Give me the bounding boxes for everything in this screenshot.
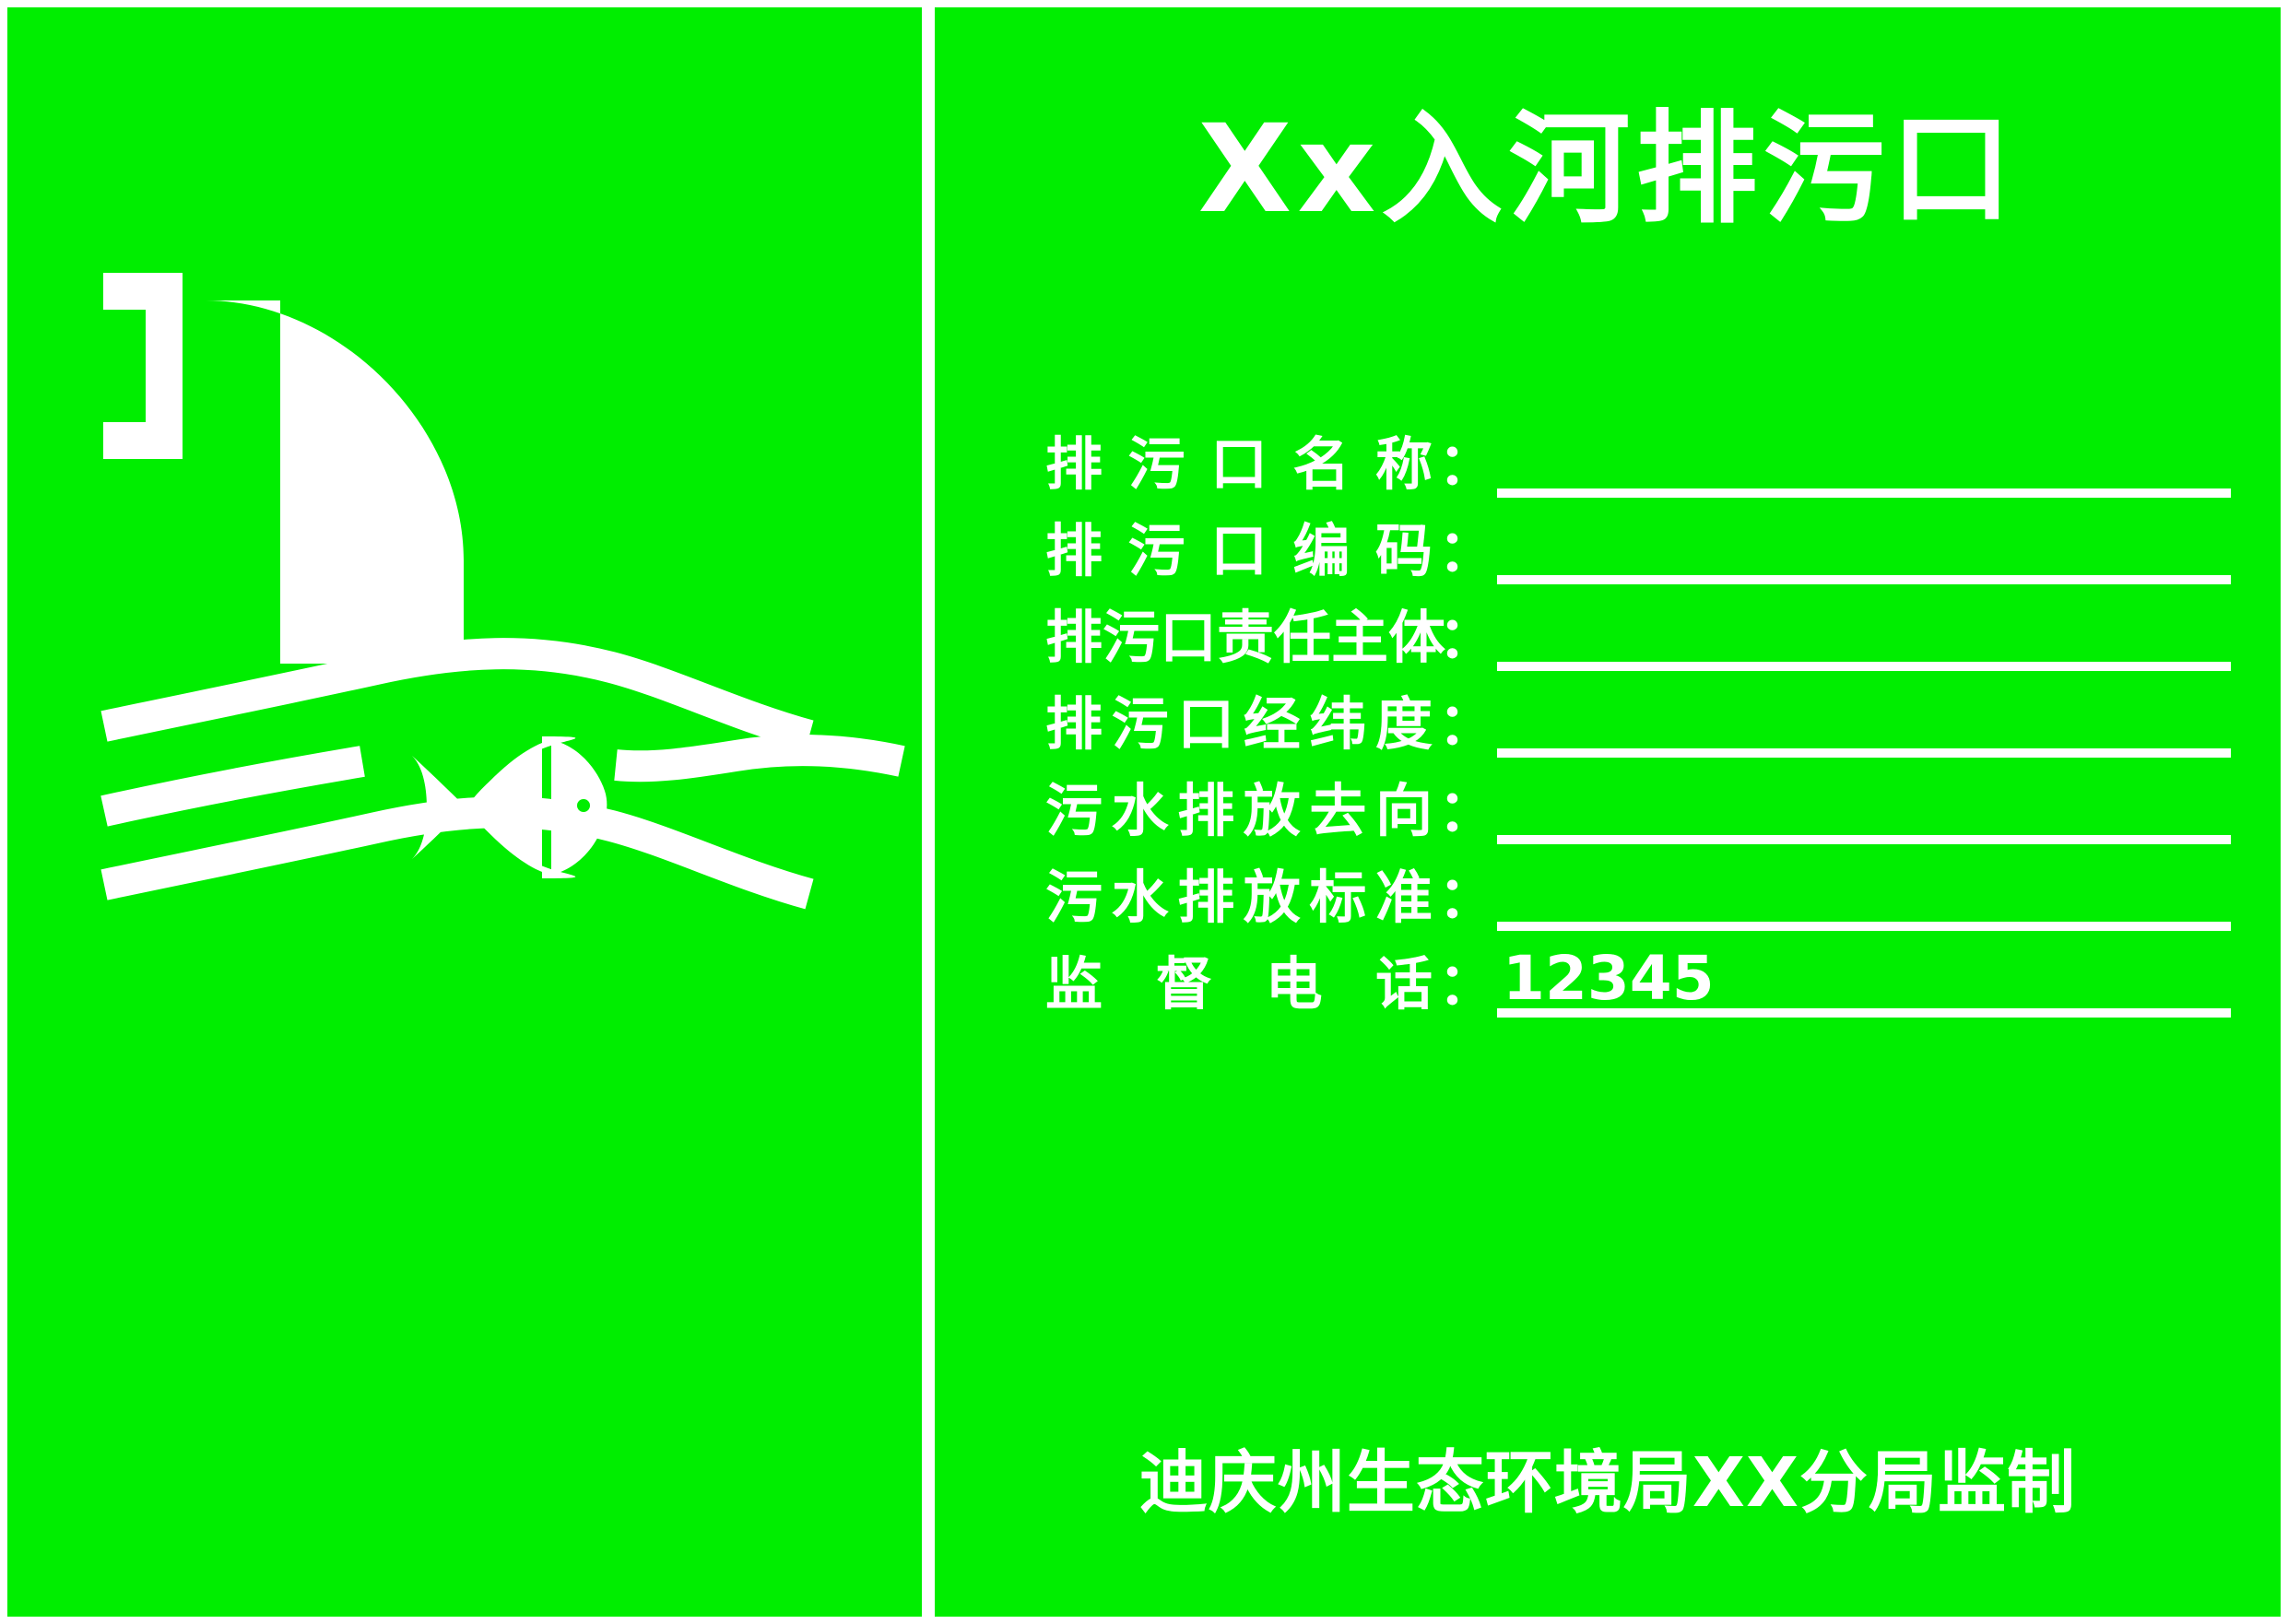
- field-underline: [1497, 922, 2231, 931]
- field-colon: ：: [1433, 951, 1497, 1018]
- field-underline: [1497, 835, 2231, 844]
- field-row-discharge-destination: 污水排放去向 ：: [1045, 778, 2236, 865]
- issuer-footer: 迪庆州生态环境局XX分局监制: [935, 1449, 2281, 1517]
- pictogram-panel: [7, 7, 922, 1617]
- field-value-wrap[interactable]: [1497, 865, 2236, 931]
- outfall-pipe-icon: [206, 300, 464, 664]
- field-row-responsible-party: 排污口责任主体 ：: [1045, 605, 2236, 691]
- field-underline: [1497, 1008, 2231, 1018]
- outfall-pictogram: [7, 7, 922, 1617]
- fields-list: 排污口名称 ： 排污口编码 ：: [1045, 431, 2236, 1038]
- sign-board: Xx入河排污口 排污口名称 ： 排污口编码 ：: [0, 0, 2288, 1624]
- field-row-outfall-name: 排污口名称 ：: [1045, 431, 2236, 518]
- field-underline: [1497, 748, 2231, 758]
- field-row-supervision-phone: 监督电话 ： 12345: [1045, 951, 2236, 1038]
- fish-icon: [412, 736, 607, 878]
- field-colon: ：: [1433, 691, 1497, 758]
- field-label: 污水排放去向: [1045, 778, 1433, 844]
- field-value-wrap[interactable]: [1497, 605, 2236, 671]
- field-value-wrap[interactable]: 12345: [1497, 951, 2236, 1018]
- field-value-wrap[interactable]: [1497, 778, 2236, 844]
- field-label: 监督电话: [1045, 951, 1433, 1018]
- field-label: 排污口责任主体: [1045, 605, 1433, 671]
- field-colon: ：: [1433, 778, 1497, 844]
- field-colon: ：: [1433, 605, 1497, 671]
- field-underline: [1497, 662, 2231, 671]
- field-row-outfall-code: 排污口编码 ：: [1045, 518, 2236, 605]
- field-value-wrap[interactable]: [1497, 518, 2236, 584]
- wall-bracket-icon: [103, 273, 183, 459]
- field-label: 排污口名称: [1045, 431, 1433, 498]
- field-row-coordinates: 排污口经纬度 ：: [1045, 691, 2236, 778]
- field-label: 排污口编码: [1045, 518, 1433, 584]
- field-colon: ：: [1433, 518, 1497, 584]
- information-panel: Xx入河排污口 排污口名称 ： 排污口编码 ：: [935, 7, 2281, 1617]
- field-label: 污水排放标准: [1045, 865, 1433, 931]
- field-underline: [1497, 575, 2231, 584]
- field-value: 12345: [1503, 948, 1715, 1009]
- field-underline: [1497, 488, 2231, 498]
- field-value-wrap[interactable]: [1497, 431, 2236, 498]
- field-colon: ：: [1433, 431, 1497, 498]
- field-label: 排污口经纬度: [1045, 691, 1433, 758]
- field-value-wrap[interactable]: [1497, 691, 2236, 758]
- page-title: Xx入河排污口: [935, 109, 2281, 230]
- field-row-discharge-standard: 污水排放标准 ：: [1045, 865, 2236, 951]
- field-colon: ：: [1433, 865, 1497, 931]
